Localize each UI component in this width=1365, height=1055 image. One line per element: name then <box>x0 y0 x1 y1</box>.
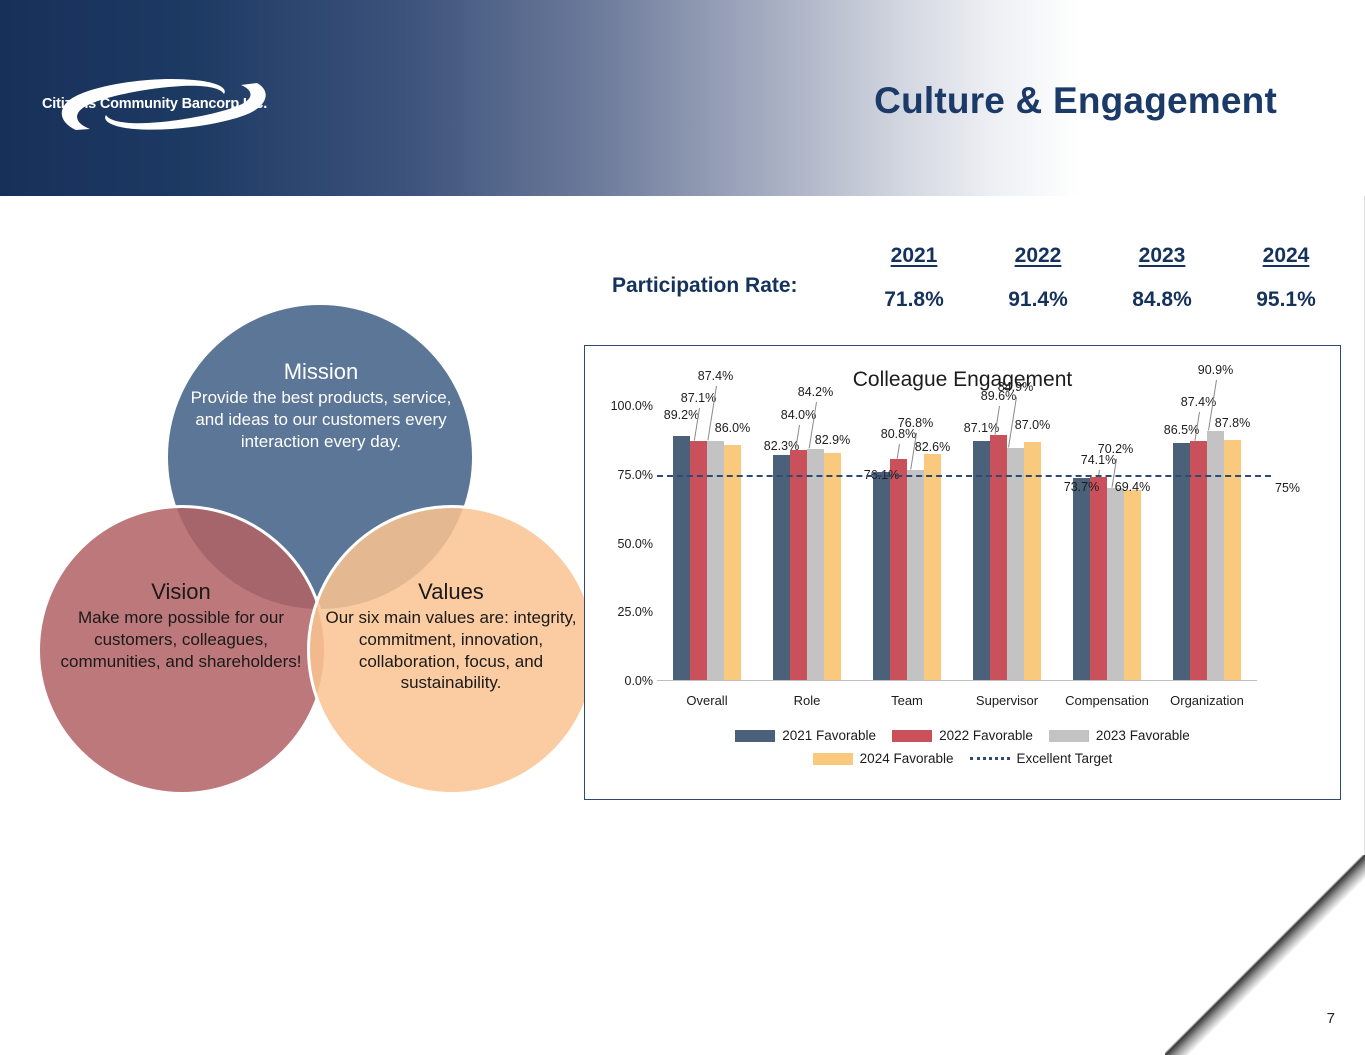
page-title: Culture & Engagement <box>874 80 1277 122</box>
legend-swatch-icon <box>735 730 775 742</box>
company-logo: Citizens Community Bancorp Inc. <box>42 66 292 142</box>
legend-item-2024-favorable: 2024 Favorable <box>813 751 954 766</box>
x-axis-label-role: Role <box>794 693 821 708</box>
data-label-compensation-2024: 69.4% <box>1115 480 1150 494</box>
participation-value: 84.8% <box>1100 288 1224 312</box>
legend-swatch-icon <box>1049 730 1089 742</box>
bar-team-2021 <box>873 472 890 681</box>
legend-item-2023-favorable: 2023 Favorable <box>1049 728 1190 743</box>
venn-heading-values: Values <box>320 578 582 606</box>
venn-text-mission: Mission Provide the best products, servi… <box>180 358 462 452</box>
bar-compensation-2021 <box>1073 478 1090 681</box>
y-axis-tick: 100.0% <box>593 399 653 413</box>
chart-plot-area: 0.0%25.0%50.0%75.0%100.0% 89.2%87.1%87.4… <box>657 406 1257 681</box>
venn-heading-vision: Vision <box>50 578 312 606</box>
data-label-organization-2021: 86.5% <box>1164 423 1199 437</box>
participation-value: 71.8% <box>852 288 976 312</box>
colleague-engagement-chart: Colleague Engagement 0.0%25.0%50.0%75.0%… <box>584 345 1341 800</box>
excellent-target-label: 75% <box>1275 481 1300 495</box>
data-label-role-2023: 84.2% <box>798 385 833 399</box>
logo-wordmark: Citizens Community Bancorp Inc. <box>42 96 292 112</box>
y-axis-tick: 50.0% <box>593 537 653 551</box>
data-label-overall-2024: 86.0% <box>715 421 750 435</box>
bar-overall-2024 <box>724 445 741 682</box>
bar-compensation-2024 <box>1124 490 1141 681</box>
x-axis-line <box>657 680 1257 681</box>
participation-year: 2021 <box>852 244 976 268</box>
participation-column-2022: 202291.4% <box>976 244 1100 312</box>
venn-text-values: Values Our six main values are: integrit… <box>320 578 582 694</box>
x-axis-label-team: Team <box>891 693 923 708</box>
legend-label: 2023 Favorable <box>1096 728 1190 743</box>
venn-heading-mission: Mission <box>180 358 462 386</box>
participation-year: 2022 <box>976 244 1100 268</box>
data-label-compensation-2023: 70.2% <box>1098 442 1133 456</box>
venn-diagram: Mission Provide the best products, servi… <box>20 290 590 800</box>
excellent-target-line <box>657 475 1271 477</box>
data-label-supervisor-2024: 87.0% <box>1015 418 1050 432</box>
participation-rate-label: Participation Rate: <box>612 274 798 298</box>
bar-supervisor-2021 <box>973 441 990 681</box>
legend-dash-icon <box>970 757 1010 760</box>
bar-supervisor-2022 <box>990 435 1007 681</box>
venn-text-vision: Vision Make more possible for our custom… <box>50 578 312 672</box>
data-label-role-2021: 82.3% <box>764 439 799 453</box>
participation-value: 95.1% <box>1224 288 1348 312</box>
legend-row-secondary: 2024 FavorableExcellent Target <box>585 751 1340 766</box>
bar-group-organization <box>1173 406 1241 681</box>
legend-item-excellent-target: Excellent Target <box>970 751 1113 766</box>
participation-value: 91.4% <box>976 288 1100 312</box>
participation-column-2021: 202171.8% <box>852 244 976 312</box>
bar-group-overall <box>673 406 741 681</box>
bar-organization-2021 <box>1173 443 1190 681</box>
bar-team-2024 <box>924 454 941 681</box>
data-label-team-2023: 76.8% <box>898 416 933 430</box>
participation-year: 2024 <box>1224 244 1348 268</box>
bar-organization-2023 <box>1207 431 1224 681</box>
legend-row-primary: 2021 Favorable2022 Favorable2023 Favorab… <box>585 728 1340 743</box>
venn-body-vision: Make more possible for our customers, co… <box>50 607 312 672</box>
bar-team-2022 <box>890 459 907 681</box>
legend-item-2021-favorable: 2021 Favorable <box>735 728 876 743</box>
bar-role-2023 <box>807 449 824 681</box>
legend-label: 2022 Favorable <box>939 728 1033 743</box>
page-number: 7 <box>1327 1010 1335 1027</box>
bar-role-2024 <box>824 453 841 681</box>
bar-compensation-2023 <box>1107 488 1124 681</box>
data-label-compensation-2021: 73.7% <box>1064 480 1099 494</box>
data-label-role-2022: 84.0% <box>781 408 816 422</box>
y-axis-tick: 75.0% <box>593 468 653 482</box>
legend-swatch-icon <box>892 730 932 742</box>
venn-body-values: Our six main values are: integrity, comm… <box>320 607 582 694</box>
data-label-organization-2024: 87.8% <box>1215 416 1250 430</box>
legend-item-2022-favorable: 2022 Favorable <box>892 728 1033 743</box>
x-axis-label-supervisor: Supervisor <box>976 693 1038 708</box>
bar-supervisor-2024 <box>1024 442 1041 681</box>
y-axis-tick: 0.0% <box>593 674 653 688</box>
data-label-overall-2022: 87.1% <box>681 391 716 405</box>
x-axis-label-overall: Overall <box>686 693 727 708</box>
legend-label: 2021 Favorable <box>782 728 876 743</box>
participation-column-2023: 202384.8% <box>1100 244 1224 312</box>
bar-overall-2021 <box>673 436 690 681</box>
data-label-role-2024: 82.9% <box>815 433 850 447</box>
x-axis-label-organization: Organization <box>1170 693 1244 708</box>
participation-column-2024: 202495.1% <box>1224 244 1348 312</box>
data-label-overall-2023: 87.4% <box>698 369 733 383</box>
x-axis-label-compensation: Compensation <box>1065 693 1149 708</box>
bar-overall-2022 <box>690 441 707 681</box>
bar-role-2021 <box>773 455 790 681</box>
legend-label: Excellent Target <box>1017 751 1113 766</box>
bar-compensation-2022 <box>1090 477 1107 681</box>
venn-body-mission: Provide the best products, service, and … <box>180 387 462 452</box>
bar-supervisor-2023 <box>1007 448 1024 681</box>
participation-year: 2023 <box>1100 244 1224 268</box>
legend-swatch-icon <box>813 753 853 765</box>
chart-legend: 2021 Favorable2022 Favorable2023 Favorab… <box>585 728 1340 774</box>
data-label-organization-2023: 90.9% <box>1198 363 1233 377</box>
participation-rate-block: Participation Rate: 202171.8%202291.4%20… <box>586 244 1346 324</box>
y-axis-tick: 25.0% <box>593 605 653 619</box>
legend-label: 2024 Favorable <box>860 751 954 766</box>
bar-role-2022 <box>790 450 807 681</box>
decorative-corner <box>1165 855 1365 1055</box>
bar-team-2023 <box>907 470 924 681</box>
data-label-overall-2021: 89.2% <box>664 408 699 422</box>
data-label-team-2024: 82.6% <box>915 440 950 454</box>
data-label-supervisor-2023: 84.9% <box>998 380 1033 394</box>
